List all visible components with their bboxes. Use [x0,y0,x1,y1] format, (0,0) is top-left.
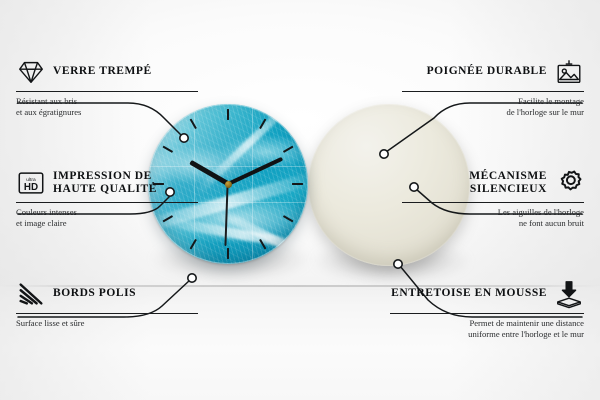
feature-description: Facilite le montage de l'horloge sur le … [402,96,584,117]
feature-header: ENTRETOISE EN MOUSSE [390,279,584,309]
feature-title: MÉCANISME SILENCIEUX [402,170,547,197]
feature-header: POIGNÉE DURABLE [402,57,584,87]
wall-hanger-icon [554,57,584,87]
foam-spacer-icon [554,279,584,309]
feature-header: MÉCANISME SILENCIEUX [402,168,584,198]
svg-text:HD: HD [24,182,38,193]
feature-title: VERRE TREMPÉ [53,65,152,79]
feature-header: ultra HD IMPRESSION DE HAUTE QUALITÉ [16,168,198,198]
feature-header: VERRE TREMPÉ [16,57,198,87]
diamond-icon [16,57,46,87]
feature-divider [402,91,584,92]
callout-dot-entretoise [394,260,402,268]
feature-title: IMPRESSION DE HAUTE QUALITÉ [53,170,198,197]
callout-dot-poignee [380,150,388,158]
feature-verre-trempe: VERRE TREMPÉ Résistant aux bris et aux é… [16,57,198,117]
feature-description: Couleurs intenses et image claire [16,207,198,228]
gear-icon [554,168,584,198]
feature-divider [402,202,584,203]
feature-title: ENTRETOISE EN MOUSSE [391,287,547,301]
feature-divider [16,313,198,314]
feature-title: POIGNÉE DURABLE [427,65,547,79]
feature-description: Surface lisse et sûre [16,318,198,329]
feature-title: BORDS POLIS [53,287,136,301]
feature-poignee-durable: POIGNÉE DURABLE Facilite le montage de l… [402,57,584,117]
feature-divider [16,91,198,92]
callout-dot-verre-trempe [180,134,188,142]
feature-impression-haute-qualite: ultra HD IMPRESSION DE HAUTE QUALITÉ Cou… [16,168,198,228]
feature-header: BORDS POLIS [16,279,198,309]
ultra-hd-icon: ultra HD [16,168,46,198]
feature-bords-polis: BORDS POLIS Surface lisse et sûre [16,279,198,329]
polished-edges-icon [16,279,46,309]
feature-description: Permet de maintenir une distance uniform… [390,318,584,339]
feature-description: Les aiguilles de l'horloge ne font aucun… [402,207,584,228]
feature-entretoise-en-mousse: ENTRETOISE EN MOUSSE Permet de maintenir… [390,279,584,339]
infographic-canvas: VERRE TREMPÉ Résistant aux bris et aux é… [0,0,600,400]
feature-description: Résistant aux bris et aux égratignures [16,96,198,117]
feature-divider [16,202,198,203]
feature-mecanisme-silencieux: MÉCANISME SILENCIEUX Les aiguilles de l'… [402,168,584,228]
feature-divider [390,313,584,314]
